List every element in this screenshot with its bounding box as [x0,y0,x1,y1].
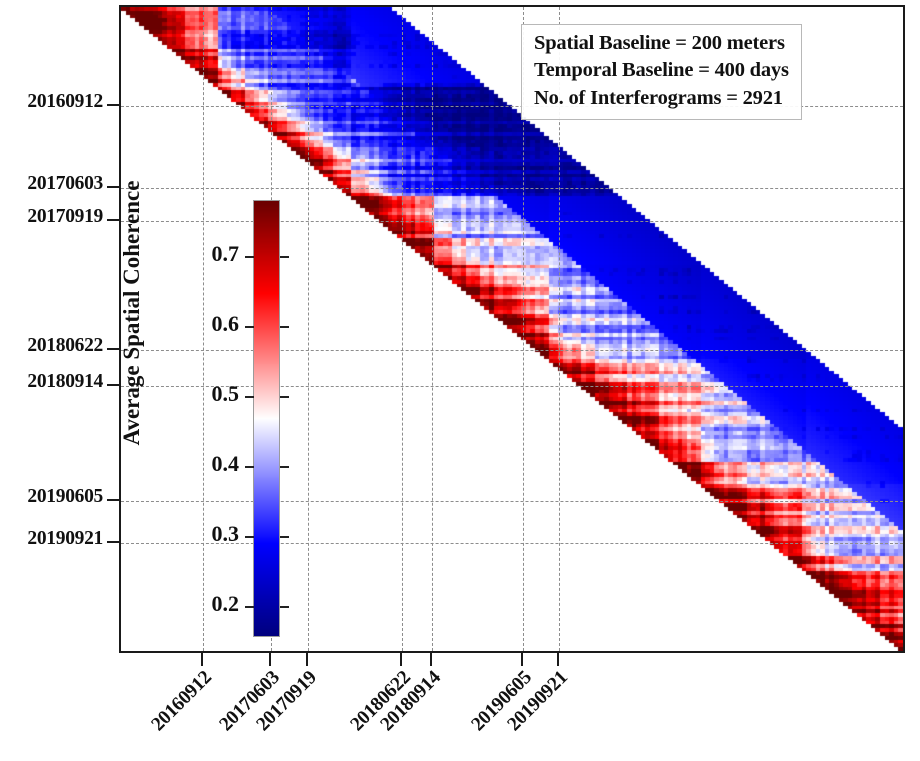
y-tick-label-20160912: 20160912 [0,91,103,113]
gridline-horizontal-20190605 [121,501,903,502]
colorbar-label-0.6: 0.6 [189,311,239,337]
gridline-horizontal-20170919 [121,221,903,222]
spatial-baseline-text: Spatial Baseline = 200 meters [534,30,789,57]
y-tick-label-20180914: 20180914 [0,371,103,393]
y-tick-label-20170919: 20170919 [0,206,103,228]
y-tick-label-20190921: 20190921 [0,528,103,550]
y-tick-label-20190605: 20190605 [0,486,103,508]
x-tick-20180914 [430,653,432,666]
y-tick-20190921 [107,541,121,543]
y-tick-label-20170603: 20170603 [0,173,103,195]
colorbar-label-0.5: 0.5 [189,381,239,407]
colorbar-canvas [254,201,279,636]
x-tick-20190921 [557,653,559,666]
colorbar-tick-right-0.7 [280,256,289,258]
gridline-vertical-20180622 [402,7,403,651]
colorbar-title: Average Spatial Coherence [119,143,145,483]
colorbar-label-0.2: 0.2 [189,591,239,617]
colorbar-tick-right-0.3 [280,536,289,538]
gridline-vertical-20180914 [432,7,433,651]
colorbar-label-0.7: 0.7 [189,241,239,267]
x-tick-20170603 [269,653,271,666]
gridline-horizontal-20180622 [121,350,903,351]
y-tick-label-20180622: 20180622 [0,335,103,357]
colorbar-tick-0.3 [245,536,254,538]
y-tick-20160912 [107,104,121,106]
x-tick-20190605 [521,653,523,666]
colorbar-tick-right-0.5 [280,396,289,398]
colorbar-tick-0.6 [245,326,254,328]
x-tick-20160912 [201,653,203,666]
colorbar-tick-right-0.4 [280,466,289,468]
colorbar-gradient-bar [253,200,280,637]
x-tick-20170919 [306,653,308,666]
parameters-legend-box: Spatial Baseline = 200 meters Temporal B… [521,24,802,120]
colorbar-tick-right-0.2 [280,606,289,608]
temporal-baseline-text: Temporal Baseline = 400 days [534,57,789,84]
x-tick-20180622 [400,653,402,666]
colorbar-tick-0.5 [245,396,254,398]
colorbar-tick-0.2 [245,606,254,608]
coherence-matrix-figure: 2016091220170603201709192018062220180914… [0,0,920,761]
colorbar-tick-0.7 [245,256,254,258]
colorbar-tick-0.4 [245,466,254,468]
gridline-vertical-20170919 [308,7,309,651]
colorbar-tick-right-0.6 [280,326,289,328]
y-tick-20190605 [107,499,121,501]
gridline-horizontal-20170603 [121,188,903,189]
colorbar-label-0.4: 0.4 [189,451,239,477]
interferogram-count-text: No. of Interferograms = 2921 [534,85,789,112]
colorbar-label-0.3: 0.3 [189,521,239,547]
